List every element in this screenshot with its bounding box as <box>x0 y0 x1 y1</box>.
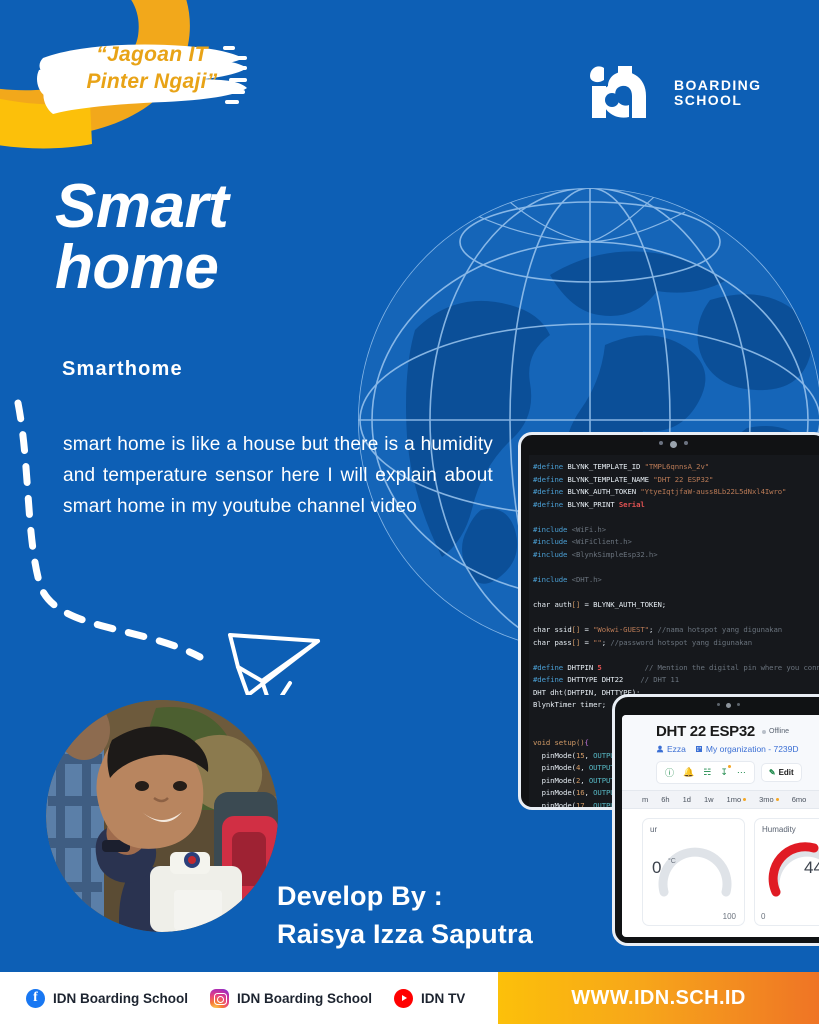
device-title: DHT 22 ESP32 <box>656 723 755 740</box>
youtube-label: IDN TV <box>421 991 465 1006</box>
tablet-mockup: DHT 22 ESP32 Offline Ezza My organizatio… <box>612 694 819 946</box>
temperature-unit: °C <box>668 858 676 865</box>
page-title: Smart home <box>55 176 435 299</box>
tablet-camera-icon <box>615 703 819 708</box>
humidity-gauge: 44 <box>762 836 819 903</box>
more-icon[interactable]: ⋯ <box>737 767 746 778</box>
youtube-icon <box>394 989 413 1008</box>
tab-1mo[interactable]: 1mo <box>727 795 747 804</box>
organization-icon <box>695 745 703 753</box>
temperature-gauge-card: ur 0 °C 100 <box>642 818 745 926</box>
temperature-value: 0 <box>652 858 661 878</box>
idn-logo: BOARDING SCHOOL <box>588 62 768 124</box>
logo-line-1: BOARDING <box>674 78 761 93</box>
website-banner[interactable]: WWW.IDN.SCH.ID <box>498 972 819 1024</box>
tab-6h[interactable]: 6h <box>661 795 669 804</box>
user-icon <box>656 745 664 753</box>
edit-button[interactable]: ✎ Edit <box>761 763 802 782</box>
laptop-camera-icon <box>521 441 819 448</box>
organization-chip[interactable]: My organization - 7239D <box>695 744 799 754</box>
tagline: “Jagoan IT Pinter Ngaji” <box>52 42 252 96</box>
footer-bar: f IDN Boarding School IDN Boarding Schoo… <box>0 972 819 1024</box>
social-facebook[interactable]: f IDN Boarding School <box>26 989 188 1008</box>
idn-logo-icon <box>588 62 662 125</box>
tab-3mo[interactable]: 3mo <box>759 795 779 804</box>
humidity-gauge-card: Humadity 44 0 <box>754 818 819 926</box>
status-badge: Offline <box>762 728 789 735</box>
logo-line-2: SCHOOL <box>674 93 761 108</box>
instagram-label: IDN Boarding School <box>237 991 372 1006</box>
edit-label: Edit <box>779 768 794 777</box>
developer-credit: Develop By : Raisya Izza Saputra <box>277 877 607 954</box>
temperature-gauge-label: ur <box>650 825 737 834</box>
humidity-gauge-label: Humadity <box>762 825 819 834</box>
time-range-tabs: m 6h 1d 1w 1mo 3mo 6mo <box>622 790 819 809</box>
dashed-path-icon <box>0 395 340 695</box>
organization-label: My organization - 7239D <box>706 744 799 754</box>
dashboard-header: DHT 22 ESP32 Offline Ezza My organizatio… <box>622 715 819 790</box>
blynk-dashboard: DHT 22 ESP32 Offline Ezza My organizatio… <box>622 715 819 937</box>
paper-plane-icon <box>230 635 318 695</box>
device-icon[interactable]: ☵ <box>703 767 711 778</box>
info-icon[interactable]: ⓘ <box>665 766 674 779</box>
tab-m[interactable]: m <box>642 795 648 804</box>
website-url: WWW.IDN.SCH.ID <box>571 987 745 1010</box>
download-icon[interactable]: ↧ <box>720 767 728 778</box>
subheading: Smarthome <box>62 358 183 381</box>
boy-thumbs-up-photo <box>46 700 278 932</box>
user-label: Ezza <box>667 744 686 754</box>
bell-icon[interactable]: 🔔 <box>683 767 694 778</box>
tab-1d[interactable]: 1d <box>683 795 691 804</box>
instagram-icon <box>210 989 229 1008</box>
dashboard-toolbar: ⓘ 🔔 ☵ ↧ ⋯ <box>656 761 755 784</box>
edit-icon: ✎ <box>769 768 776 777</box>
facebook-icon: f <box>26 989 45 1008</box>
temperature-max: 100 <box>723 912 736 921</box>
social-instagram[interactable]: IDN Boarding School <box>210 989 372 1008</box>
status-dot-icon <box>762 730 766 734</box>
user-chip[interactable]: Ezza <box>656 744 686 754</box>
social-youtube[interactable]: IDN TV <box>394 989 465 1008</box>
humidity-min: 0 <box>761 912 765 921</box>
poster-canvas: “Jagoan IT Pinter Ngaji” BOARDING SCHOOL… <box>0 0 819 1024</box>
tab-6mo[interactable]: 6mo <box>792 795 807 804</box>
status-label: Offline <box>769 728 789 735</box>
tab-1w[interactable]: 1w <box>704 795 714 804</box>
facebook-label: IDN Boarding School <box>53 991 188 1006</box>
temperature-gauge: 0 °C <box>650 836 737 903</box>
humidity-value: 44 <box>804 858 819 878</box>
